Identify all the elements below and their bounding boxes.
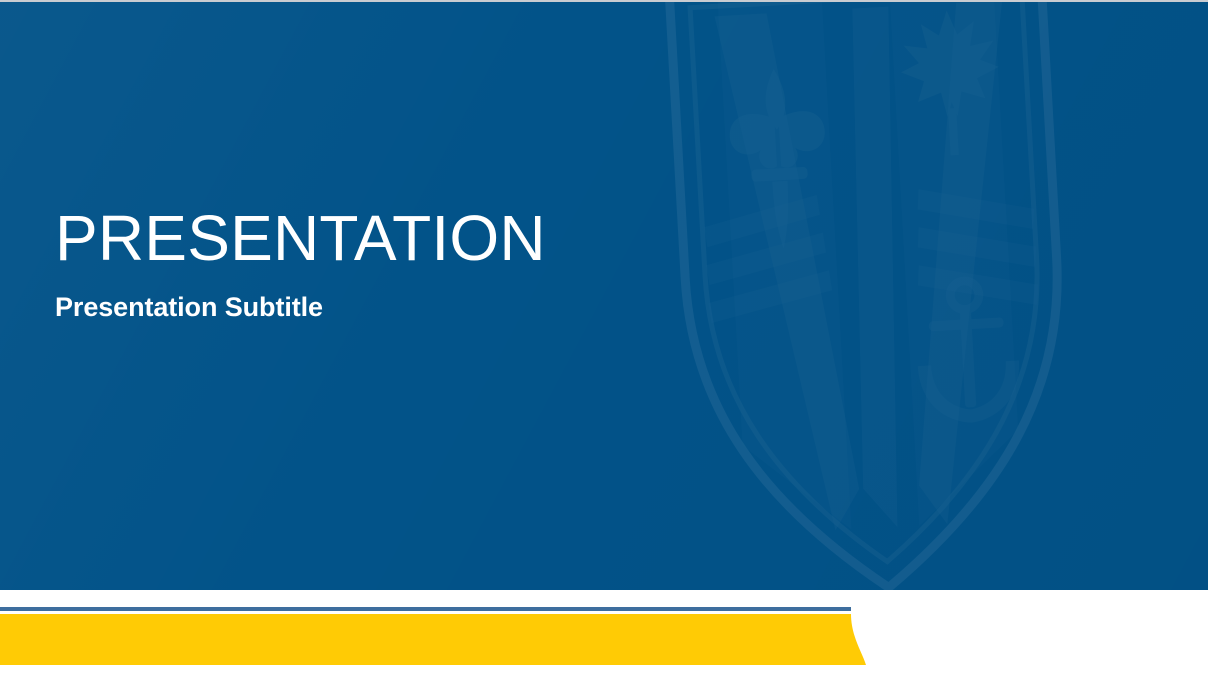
- slide-footer: Engineering University of Windsor: [0, 590, 1208, 680]
- slide-background-panel: PRESENTATION Presentation Subtitle: [0, 2, 1208, 590]
- yellow-swoosh-icon: [0, 590, 900, 680]
- title-block: PRESENTATION Presentation Subtitle: [55, 206, 675, 323]
- uwindsor-shield-watermark-icon: [654, 2, 1089, 590]
- slide-title: PRESENTATION: [55, 206, 675, 271]
- presentation-slide: PRESENTATION Presentation Subtitle: [0, 0, 1208, 680]
- blue-rule-icon: [0, 607, 851, 611]
- slide-subtitle: Presentation Subtitle: [55, 271, 675, 323]
